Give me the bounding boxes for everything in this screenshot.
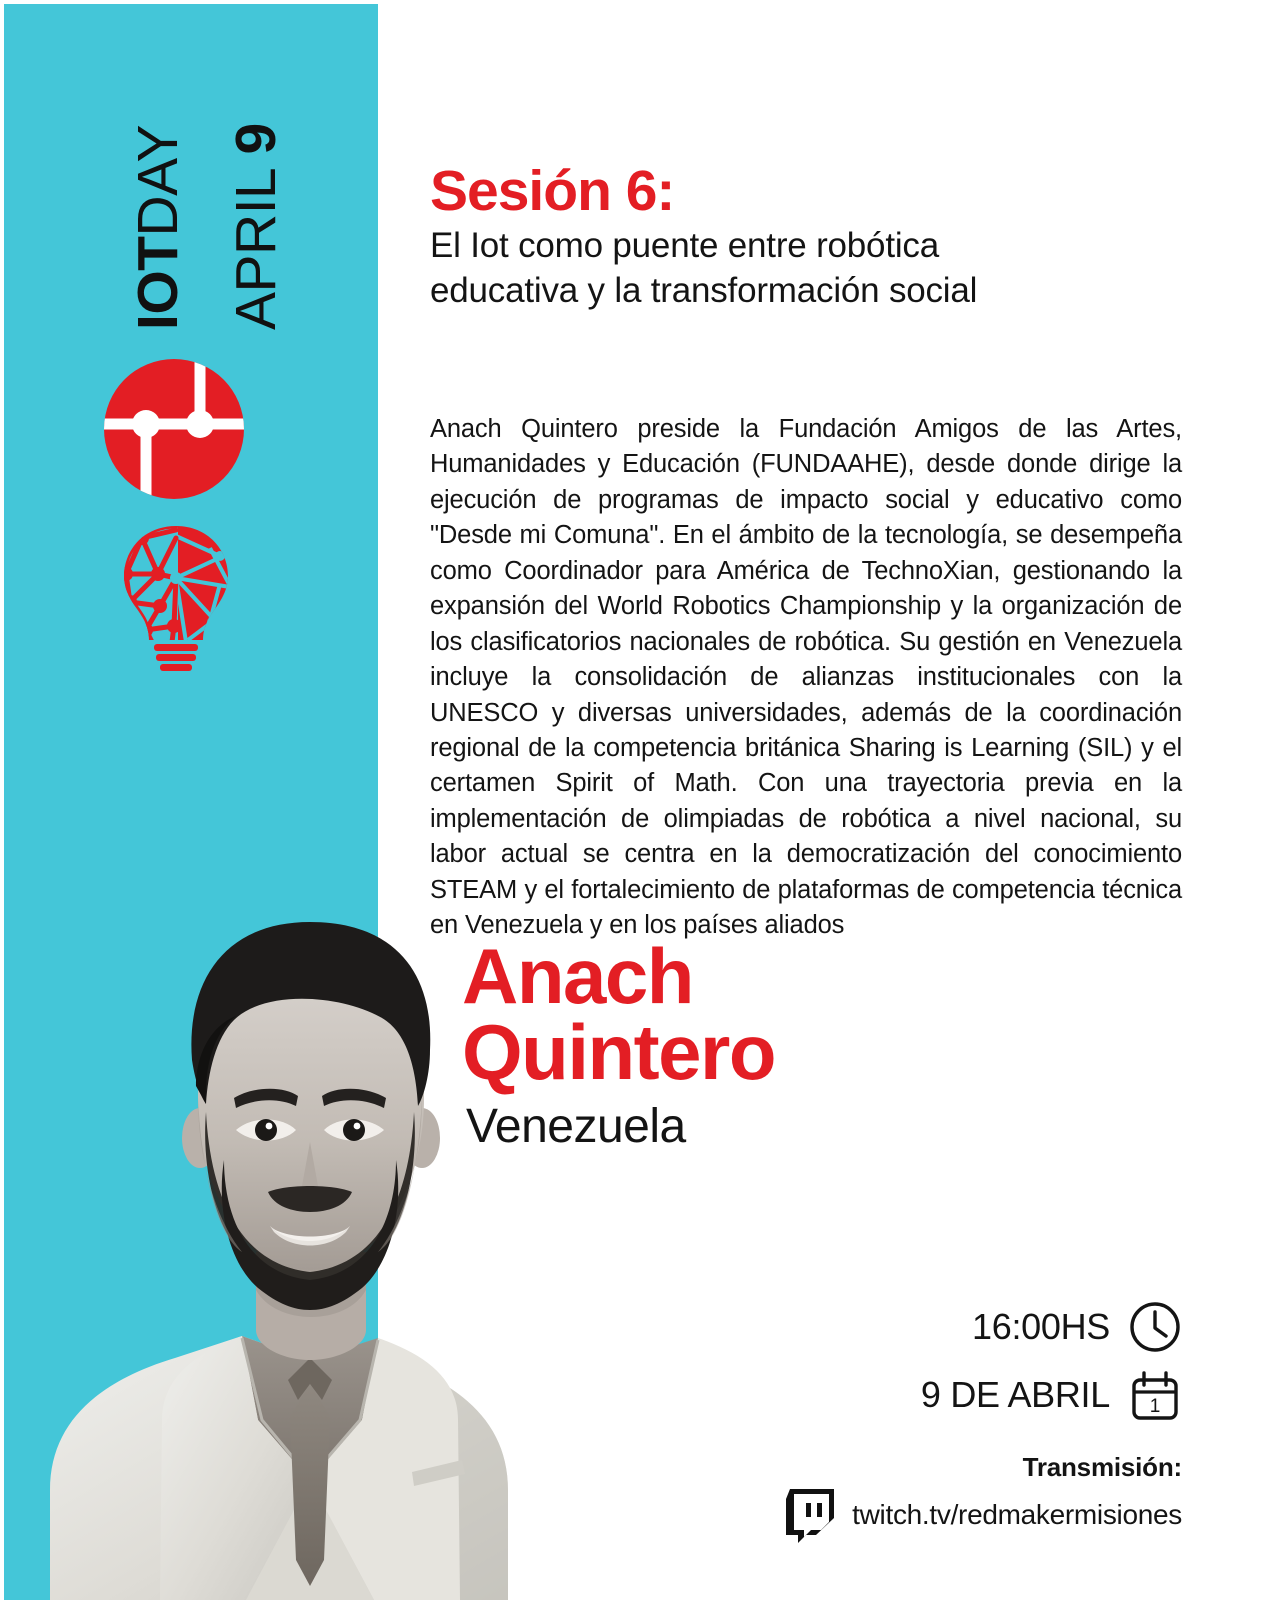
speaker-country: Venezuela bbox=[466, 1101, 1162, 1154]
schedule-time-text: 16:00HS bbox=[972, 1306, 1110, 1348]
session-kicker: Sesión 6: bbox=[430, 162, 1182, 220]
iot-network-circle-icon bbox=[100, 358, 248, 500]
broadcast-block: Transmisión: twitch.tv/redmakermisiones bbox=[762, 1452, 1182, 1543]
brand-april-text: APRIL 9 bbox=[228, 123, 285, 330]
broadcast-handle[interactable]: twitch.tv/redmakermisiones bbox=[852, 1499, 1182, 1531]
poster-canvas: IOTDAY APRIL 9 bbox=[0, 0, 1280, 1600]
schedule-date-row: 9 DE ABRIL 1 bbox=[762, 1368, 1182, 1422]
broadcast-label: Transmisión: bbox=[762, 1452, 1182, 1483]
session-subtitle: El Iot como puente entre robótica educat… bbox=[430, 224, 1182, 314]
session-subtitle-line-1: El Iot como puente entre robótica bbox=[430, 226, 939, 265]
calendar-icon: 1 bbox=[1128, 1368, 1182, 1422]
brand-nine-word: 9 bbox=[224, 123, 288, 154]
speaker-first-name: Anach bbox=[462, 938, 1162, 1014]
speaker-bio: Anach Quintero preside la Fundación Amig… bbox=[430, 412, 1182, 944]
brand-day-word: DAY bbox=[126, 125, 190, 236]
speaker-name-block: Anach Quintero Venezuela bbox=[462, 938, 1162, 1154]
schedule-time-row: 16:00HS bbox=[762, 1300, 1182, 1354]
twitch-icon[interactable] bbox=[784, 1487, 836, 1543]
calendar-day-number: 1 bbox=[1150, 1396, 1161, 1417]
brand-iotday-text: IOTDAY bbox=[130, 125, 187, 330]
mesh-lightbulb-icon bbox=[112, 522, 240, 674]
brand-iot-word: IOT bbox=[126, 237, 190, 331]
clock-icon bbox=[1128, 1300, 1182, 1354]
broadcast-handle-row[interactable]: twitch.tv/redmakermisiones bbox=[762, 1487, 1182, 1543]
brand-april-word: APRIL bbox=[224, 155, 288, 330]
schedule-date-text: 9 DE ABRIL bbox=[921, 1374, 1110, 1416]
session-title-block: Sesión 6: El Iot como puente entre robót… bbox=[430, 162, 1182, 314]
schedule-block: 16:00HS 9 DE ABRIL 1 bbox=[762, 1300, 1182, 1436]
iot-day-brand-lockup: IOTDAY APRIL 9 bbox=[78, 92, 310, 362]
speaker-last-name: Quintero bbox=[462, 1014, 1162, 1090]
session-subtitle-line-2: educativa y la transformación social bbox=[430, 271, 977, 310]
